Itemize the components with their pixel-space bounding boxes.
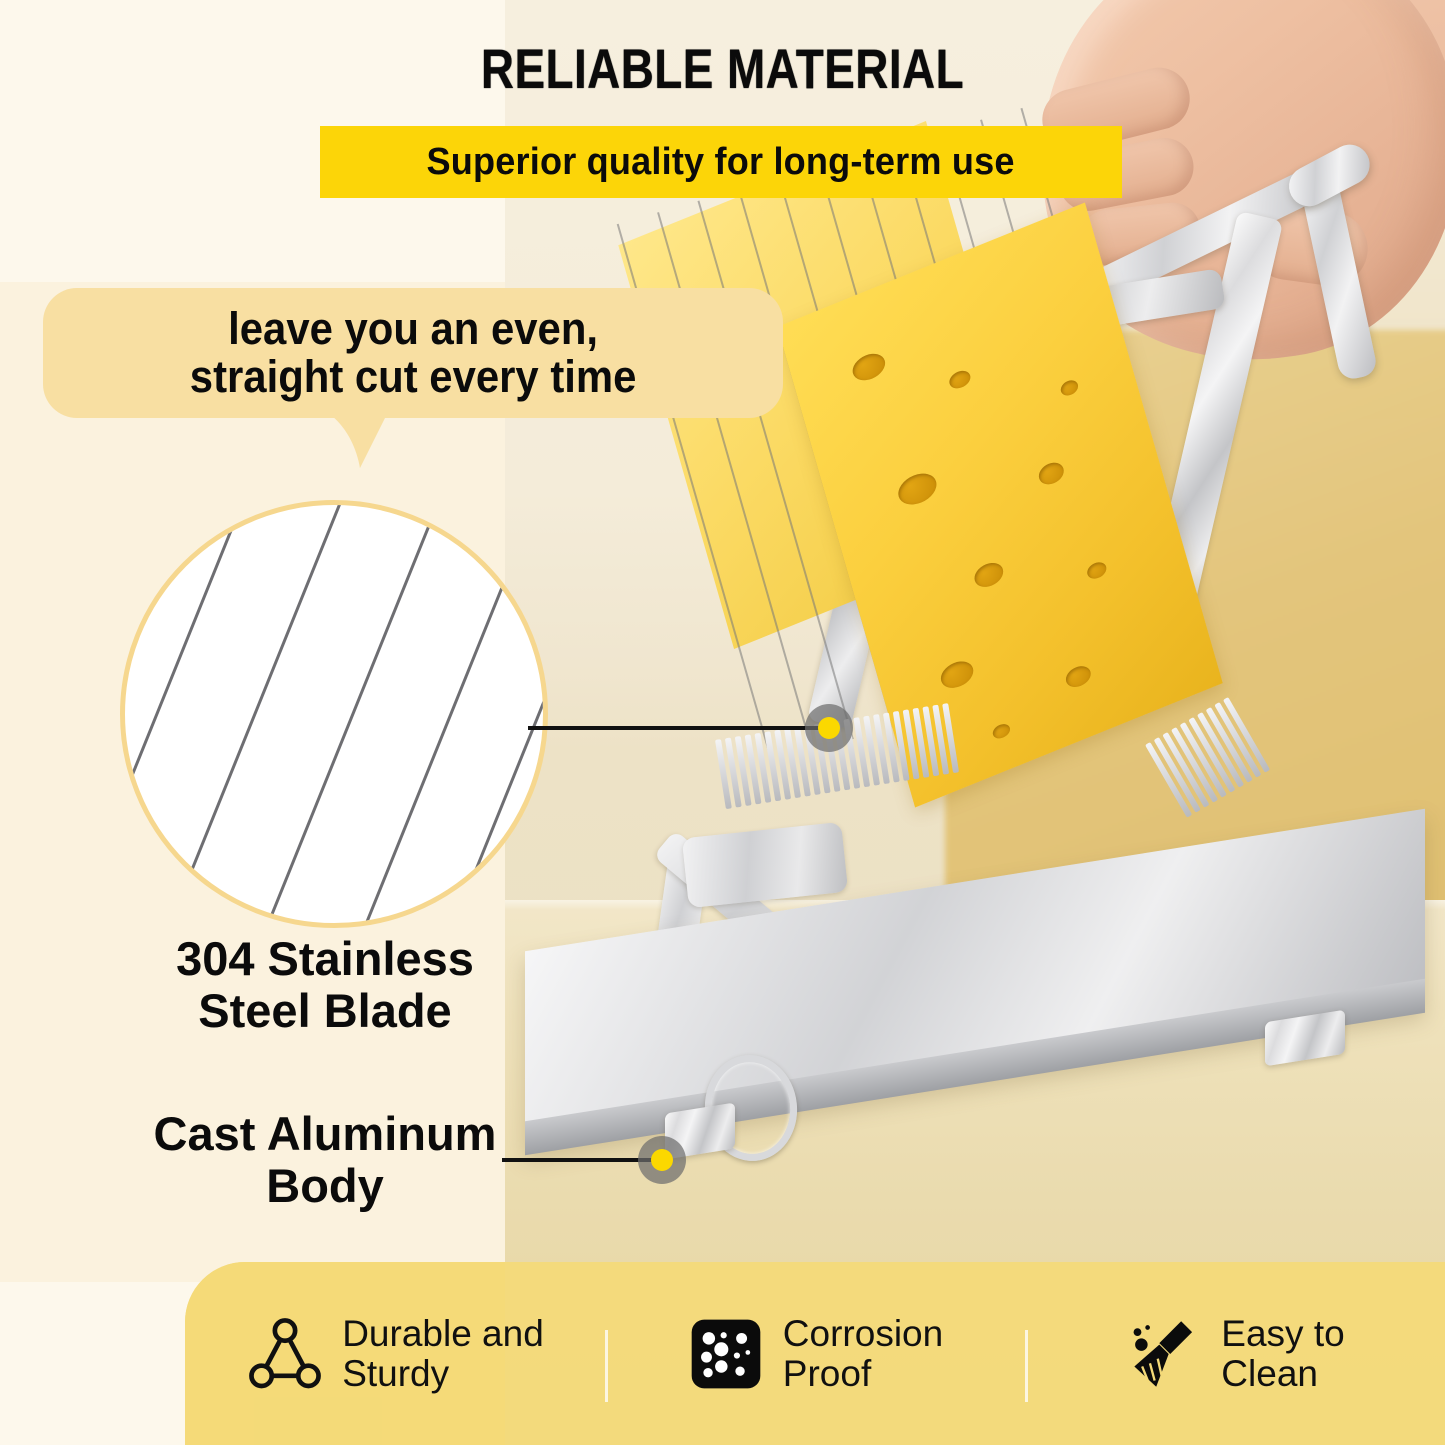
callout-marker-dot bbox=[651, 1149, 673, 1171]
feature-label-durable: Durable and Sturdy bbox=[342, 1314, 544, 1394]
feature-item-durable: Durable and Sturdy bbox=[185, 1314, 605, 1394]
feature-label-easy-clean-line2: Clean bbox=[1221, 1354, 1344, 1394]
label-stainless-blade: 304 Stainless Steel Blade bbox=[60, 933, 590, 1036]
corrosion-dots-icon bbox=[687, 1315, 765, 1393]
feature-label-durable-line2: Sturdy bbox=[342, 1354, 544, 1394]
product-photo bbox=[505, 0, 1445, 1445]
leader-line-blade bbox=[528, 726, 828, 730]
label-blade-line1: 304 Stainless bbox=[60, 933, 590, 985]
label-body-line1: Cast Aluminum bbox=[60, 1108, 590, 1160]
callout-marker-body bbox=[638, 1136, 686, 1184]
subtitle-banner: Superior quality for long-term use bbox=[320, 126, 1122, 198]
callout-marker-dot bbox=[818, 717, 840, 739]
label-body-line2: Body bbox=[60, 1160, 590, 1212]
slicer-pivot-block bbox=[682, 822, 848, 908]
speech-bubble-line1: leave you an even, bbox=[190, 305, 637, 353]
subtitle-banner-text: Superior quality for long-term use bbox=[427, 141, 1015, 184]
callout-marker-blade bbox=[805, 704, 853, 752]
infographic-canvas: RELIABLE MATERIAL Superior quality for l… bbox=[0, 0, 1445, 1445]
page-title: RELIABLE MATERIAL bbox=[130, 36, 1315, 101]
feature-bar: Durable and Sturdy Corrosion Proof bbox=[185, 1262, 1445, 1445]
blade-closeup-circle bbox=[120, 500, 548, 928]
speech-bubble-tail bbox=[330, 412, 390, 470]
feature-label-easy-clean-line1: Easy to bbox=[1221, 1314, 1344, 1354]
speech-bubble-text: leave you an even, straight cut every ti… bbox=[190, 305, 637, 400]
feature-item-corrosion: Corrosion Proof bbox=[605, 1314, 1025, 1394]
feature-label-corrosion-line1: Corrosion bbox=[783, 1314, 943, 1354]
feature-label-corrosion: Corrosion Proof bbox=[783, 1314, 943, 1394]
label-blade-line2: Steel Blade bbox=[60, 985, 590, 1037]
feature-label-durable-line1: Durable and bbox=[342, 1314, 544, 1354]
feature-item-easy-clean: Easy to Clean bbox=[1025, 1314, 1445, 1394]
speech-bubble-line2: straight cut every time bbox=[190, 353, 637, 401]
triangle-nodes-icon bbox=[246, 1315, 324, 1393]
speech-bubble: leave you an even, straight cut every ti… bbox=[43, 288, 783, 418]
feature-label-easy-clean: Easy to Clean bbox=[1221, 1314, 1344, 1394]
feature-label-corrosion-line2: Proof bbox=[783, 1354, 943, 1394]
broom-sparkle-icon bbox=[1125, 1315, 1203, 1393]
